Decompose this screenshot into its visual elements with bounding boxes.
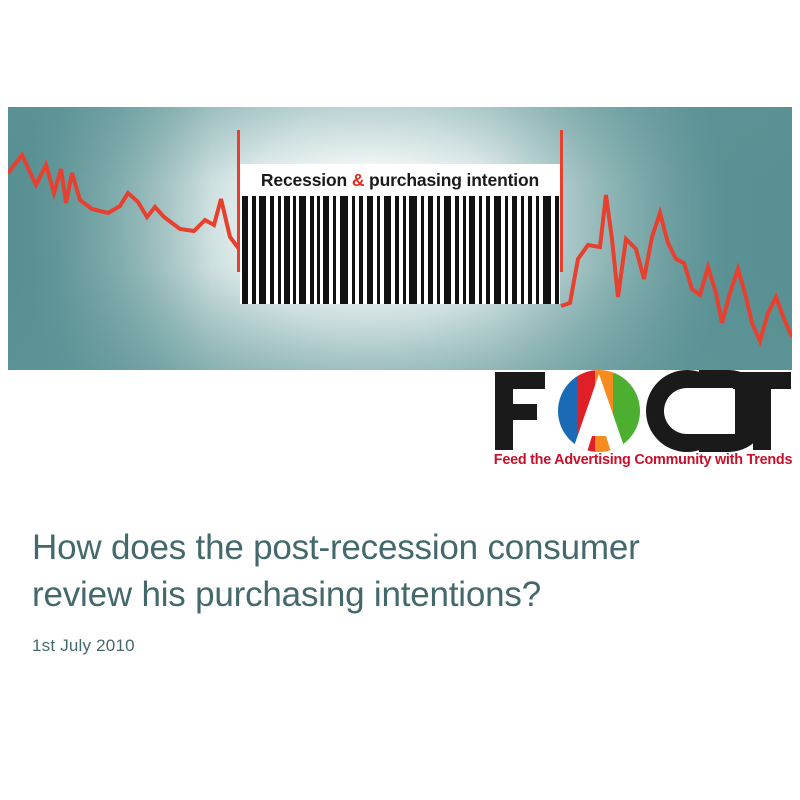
logo-tagline: Feed the Advertising Community with Tren… [493, 452, 793, 468]
title-block: How does the post-recession consumer rev… [32, 524, 762, 656]
logo-letter-a-mark [556, 370, 643, 452]
barcode-label-prefix: Recession [261, 170, 352, 190]
barcode-label-ampersand: & [352, 170, 365, 190]
page-title: How does the post-recession consumer rev… [32, 524, 762, 618]
title-slide: Recession & purchasing intention [0, 0, 800, 800]
fact-wordmark [493, 368, 793, 454]
fact-logo: Feed the Advertising Community with Tren… [493, 368, 793, 480]
barcode-edge-right-icon [560, 130, 563, 272]
recession-banner: Recession & purchasing intention [8, 107, 792, 370]
trend-line-left [8, 155, 247, 303]
trend-line-right [561, 195, 792, 341]
barcode-bars [240, 196, 560, 304]
logo-letter-f [495, 372, 545, 450]
barcode-graphic: Recession & purchasing intention [240, 164, 560, 304]
slide-date: 1st July 2010 [32, 636, 762, 656]
barcode-label-suffix: purchasing intention [364, 170, 539, 190]
barcode-label: Recession & purchasing intention [240, 168, 560, 194]
